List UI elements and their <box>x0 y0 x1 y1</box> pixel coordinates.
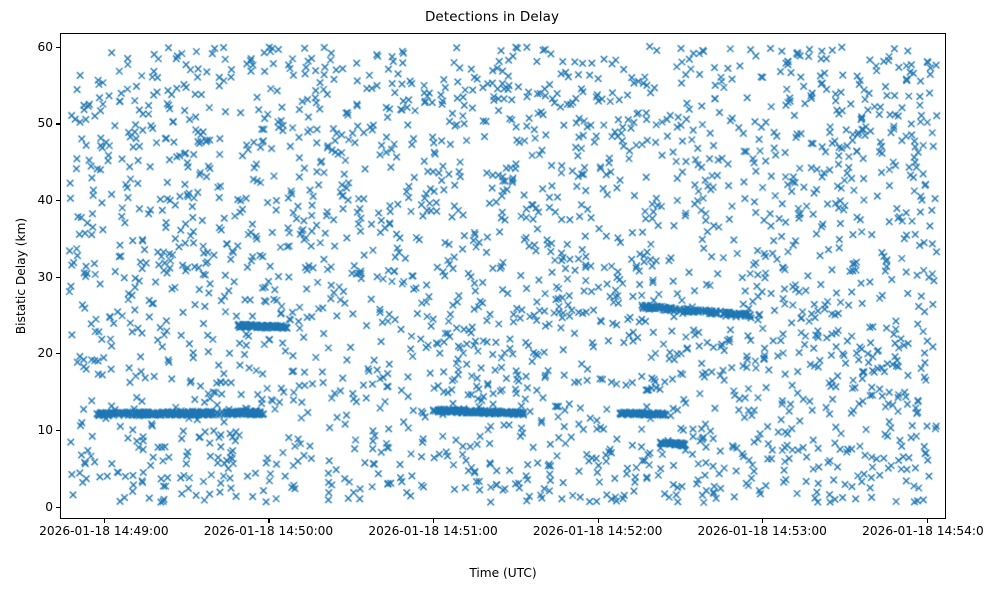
y-axis-tick-label: 30 <box>37 270 53 284</box>
scatter-plot-canvas <box>61 34 945 518</box>
y-axis-tick-label: 60 <box>37 40 53 54</box>
y-axis-tick-label: 0 <box>45 500 53 514</box>
x-axis-tick-mark <box>433 519 434 523</box>
y-axis-tick-mark <box>56 47 60 48</box>
y-axis-tick-label: 40 <box>37 193 53 207</box>
x-axis-tick-label: 2026-01-18 14:50:00 <box>204 524 333 538</box>
chart-title: Detections in Delay <box>0 9 984 25</box>
y-axis-tick-label: 20 <box>37 346 53 360</box>
x-axis-tick-mark <box>268 519 269 523</box>
figure: Detections in Delay 0102030405060 Bistat… <box>0 0 984 590</box>
y-axis-tick-label: 50 <box>37 116 53 130</box>
y-axis-tick-mark <box>56 353 60 354</box>
x-axis-tick-label: 2026-01-18 14:49:00 <box>39 524 168 538</box>
y-axis-tick-label: 10 <box>37 423 53 437</box>
x-axis-tick-label: 2026-01-18 14:53:00 <box>697 524 826 538</box>
x-axis-tick-label: 2026-01-18 14:51:00 <box>368 524 497 538</box>
plot-axes <box>60 33 946 519</box>
x-axis-tick-mark <box>598 519 599 523</box>
y-axis-tick-mark <box>56 430 60 431</box>
y-axis-label: Bistatic Delay (km) <box>12 33 30 519</box>
y-axis-tick-mark <box>56 123 60 124</box>
y-axis-tick-mark <box>56 507 60 508</box>
x-axis-tick-mark <box>104 519 105 523</box>
x-axis-tick-label: 2026-01-18 14:52:00 <box>533 524 662 538</box>
x-axis-tick-mark <box>927 519 928 523</box>
y-axis-tick-mark <box>56 277 60 278</box>
x-axis-label: Time (UTC) <box>60 566 946 580</box>
x-axis-tick-mark <box>762 519 763 523</box>
x-axis-tick-label: 2026-01-18 14:54:00 <box>862 524 984 538</box>
y-axis-tick-mark <box>56 200 60 201</box>
